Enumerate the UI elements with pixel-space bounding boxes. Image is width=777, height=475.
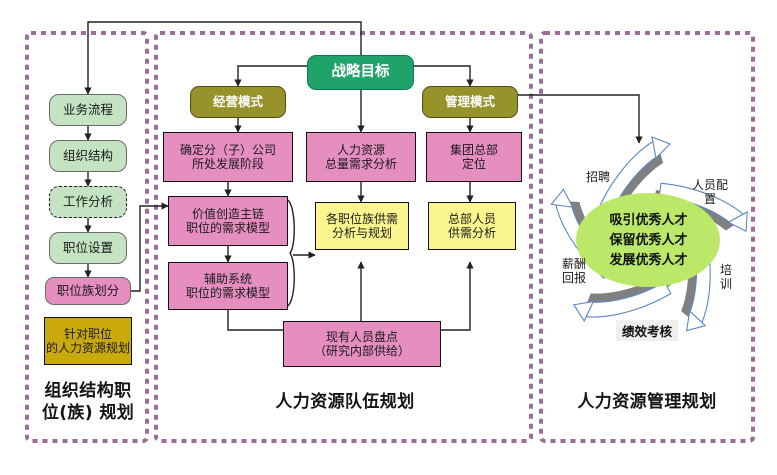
panel-title-line: 人力资源队伍规划 [180,392,510,414]
panel-title-right: 人力资源管理规划 [551,392,743,414]
core-line-3: 发展优秀人才 [576,251,721,271]
core-line-2: 保留优秀人才 [576,231,721,251]
petal-label-performance[interactable]: 绩效考核 [616,320,678,341]
panel-title-middle: 人力资源队伍规划 [180,392,510,414]
core-line-1: 吸引优秀人才 [576,211,721,231]
petal-text: 绩效考核 [622,321,672,340]
petal-label-recruitment[interactable]: 招聘 [578,171,618,185]
panel-title-line: 位(族) 规划 [30,403,146,425]
petal-label-staffing[interactable]: 人员配置 [687,179,733,207]
diagram-canvas: 业务流程 组织结构 工作分析 职位设置 职位族划分 针对职位的人力资源规划 战略… [0,0,777,475]
petal-text: 培训 [716,264,736,292]
petal-text: 人员配置 [687,179,733,207]
petal-text: 薪酬回报 [556,258,592,286]
petal-label-compensation[interactable]: 薪酬回报 [556,258,592,286]
petal-label-training[interactable]: 培训 [716,264,736,292]
panel-title-left: 组织结构职 位(族) 规划 [30,381,146,425]
talent-core-text: 吸引优秀人才 保留优秀人才 发展优秀人才 [576,211,721,271]
panel-title-line: 组织结构职 [30,381,146,403]
panel-title-line: 人力资源管理规划 [551,392,743,414]
petal-text: 招聘 [578,171,618,185]
